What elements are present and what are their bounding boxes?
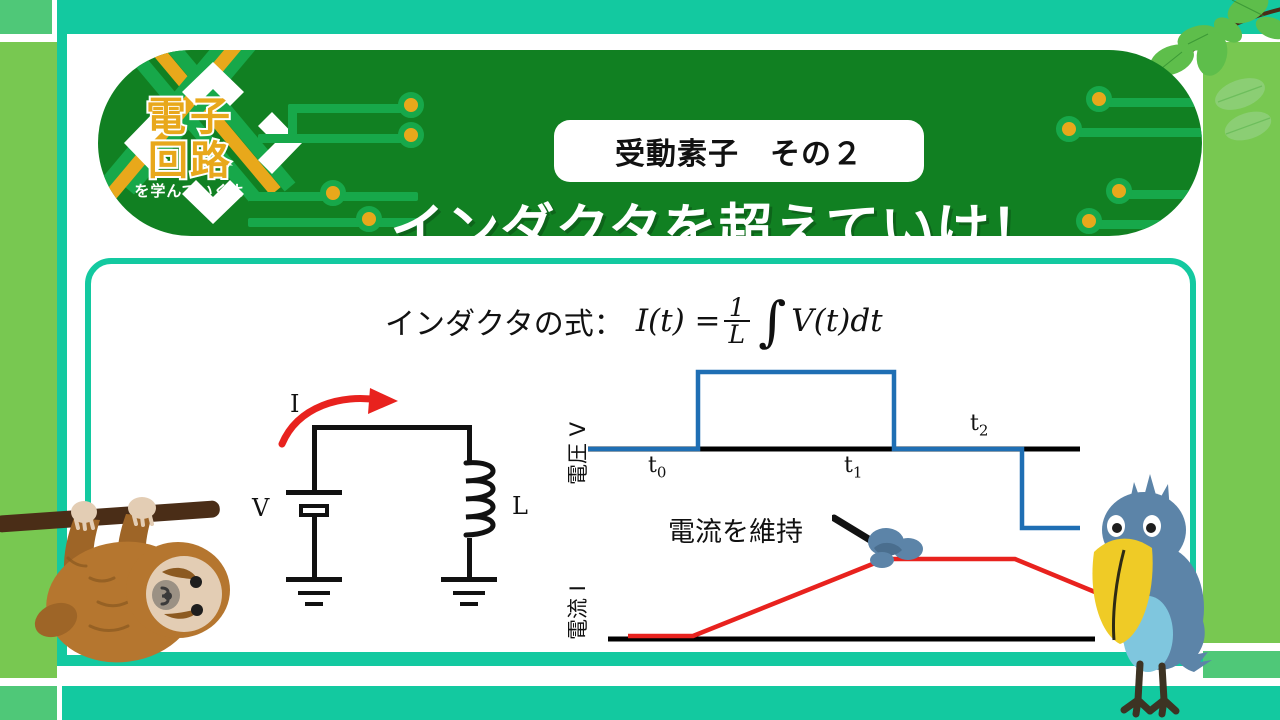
- formula-row: インダクタの式： I(t) = 1 L ∫ V(t)dt: [385, 285, 1005, 357]
- shoebill-character: [1082, 468, 1242, 720]
- battery-plate-long: [286, 490, 342, 495]
- integral-sign: ∫: [758, 290, 786, 353]
- wire-top: [312, 425, 472, 430]
- circuit-diagram: I V L: [230, 380, 550, 630]
- ground-bar-2a: [441, 577, 497, 582]
- voltage-waveform-chart: [580, 355, 1080, 545]
- formula-numerator: 1: [724, 295, 750, 323]
- source-label: V: [252, 494, 269, 522]
- tree-branch: [0, 500, 220, 533]
- battery-lead-bottom: [312, 517, 317, 577]
- wire-inductor-bottom: [467, 538, 472, 578]
- ground-bar-1b: [298, 591, 330, 595]
- logo-line-2: 回路: [100, 128, 280, 186]
- ground-bar-2c: [460, 602, 478, 606]
- ground-bar-1a: [286, 577, 342, 582]
- ground-bar-2b: [453, 591, 485, 595]
- page-title-text: インダクタを超えていけ！: [390, 185, 1045, 237]
- leaf-branch-decoration-right: [1198, 70, 1280, 156]
- wire-left: [312, 425, 317, 490]
- inductor-symbol: [460, 458, 510, 544]
- subtitle-badge-label: 受動素子 その２: [615, 129, 863, 173]
- shoebill-marker-icon: [862, 524, 924, 570]
- formula-expression: I(t) = 1 L ∫ V(t)dt: [636, 290, 883, 353]
- tick-label-t2: t2: [970, 411, 988, 439]
- formula-fraction: 1 L: [724, 295, 751, 348]
- battery-plate-short: [299, 504, 329, 517]
- slide-canvas: 電子 回路 を学んでいくよ 受動素子 その２: [0, 0, 1280, 720]
- inductor-label: L: [512, 492, 528, 520]
- current-label: I: [290, 390, 299, 418]
- header-banner: 電子 回路 を学んでいくよ 受動素子 その２: [98, 50, 1202, 236]
- tick-label-t0: t0: [648, 453, 666, 481]
- tick-label-t1: t1: [844, 453, 862, 481]
- page-title: インダクタを超えていけ！: [278, 188, 1158, 236]
- formula-denominator: L: [724, 322, 751, 348]
- annotation-hold-current: 電流を維持: [668, 510, 803, 549]
- subtitle-badge: 受動素子 その２: [554, 120, 924, 182]
- formula-lhs: I(t) =: [636, 303, 721, 339]
- frame-block-bottom-left: [0, 686, 57, 720]
- sloth-character: [0, 462, 234, 676]
- formula-label: インダクタの式：: [385, 299, 624, 343]
- formula-rhs: V(t)dt: [791, 303, 882, 339]
- brand-logo: 電子 回路 を学んでいくよ: [100, 56, 280, 231]
- waveform-graphs: 電圧 V t0 t1 t2 電流 I: [540, 355, 1080, 655]
- frame-bar-top: [62, 0, 1280, 34]
- frame-block-top-left: [0, 0, 52, 34]
- ground-bar-1c: [305, 602, 323, 606]
